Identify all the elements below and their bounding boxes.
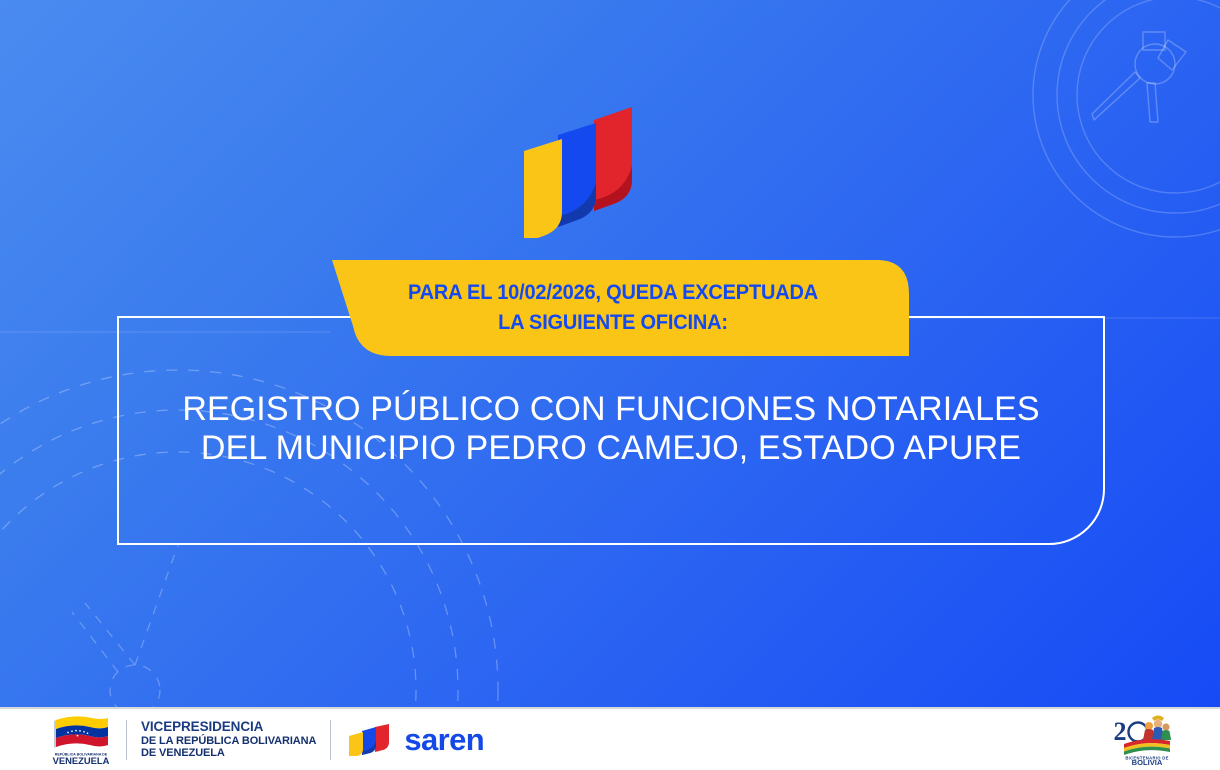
- headline-line-2: DEL MUNICIPIO PEDRO CAMEJO, ESTADO APURE: [117, 429, 1105, 468]
- bicentenario-bolivia-icon: 2 BICENTENARIO DE BOLIVIA: [1104, 714, 1190, 766]
- footer-right-group: 2 BICENTENARIO DE BOLIVIA: [1104, 714, 1190, 766]
- vp-line-3: DE VENEZUELA: [141, 747, 316, 760]
- footer-divider-2: [330, 720, 331, 760]
- saren-emblem: [524, 104, 700, 238]
- compass-sketch-icon: [72, 545, 178, 715]
- saren-logo: saren: [349, 722, 484, 758]
- svg-text:VENEZUELA: VENEZUELA: [53, 755, 110, 766]
- office-headline: REGISTRO PÚBLICO CON FUNCIONES NOTARIALE…: [117, 390, 1105, 469]
- notice-ribbon: PARA EL 10/02/2026, QUEDA EXCEPTUADA LA …: [317, 260, 909, 356]
- footer-divider-1: [126, 720, 127, 760]
- footer-left-group: REPÚBLICA BOLIVARIANA DE VENEZUELA VICEP…: [50, 714, 484, 766]
- vp-line-2: DE LA REPÚBLICA BOLIVARIANA: [141, 735, 316, 748]
- vp-line-1: VICEPRESIDENCIA: [141, 719, 316, 735]
- poster-canvas: PARA EL 10/02/2026, QUEDA EXCEPTUADA LA …: [0, 0, 1220, 770]
- emblem-yellow-panel: [524, 139, 562, 238]
- svg-text:2: 2: [1114, 717, 1127, 746]
- saren-wordmark: saren: [404, 722, 484, 758]
- saren-mark-icon: [349, 724, 397, 756]
- arc-group-top-right: [1033, 0, 1220, 237]
- crowd-figures: [1143, 715, 1171, 740]
- footer-bar: REPÚBLICA BOLIVARIANA DE VENEZUELA VICEP…: [0, 707, 1220, 770]
- headline-line-1: REGISTRO PÚBLICO CON FUNCIONES NOTARIALE…: [117, 390, 1105, 429]
- vicepresidencia-text: VICEPRESIDENCIA DE LA REPÚBLICA BOLIVARI…: [141, 719, 316, 760]
- compass-drafting-icon: [1092, 32, 1186, 122]
- ribbon-line-2: LA SIGUIENTE OFICINA:: [498, 309, 728, 337]
- svg-text:BOLIVIA: BOLIVIA: [1132, 758, 1163, 766]
- ribbon-line-1: PARA EL 10/02/2026, QUEDA EXCEPTUADA: [408, 279, 818, 307]
- venezuela-flag-icon: REPÚBLICA BOLIVARIANA DE VENEZUELA: [50, 714, 112, 766]
